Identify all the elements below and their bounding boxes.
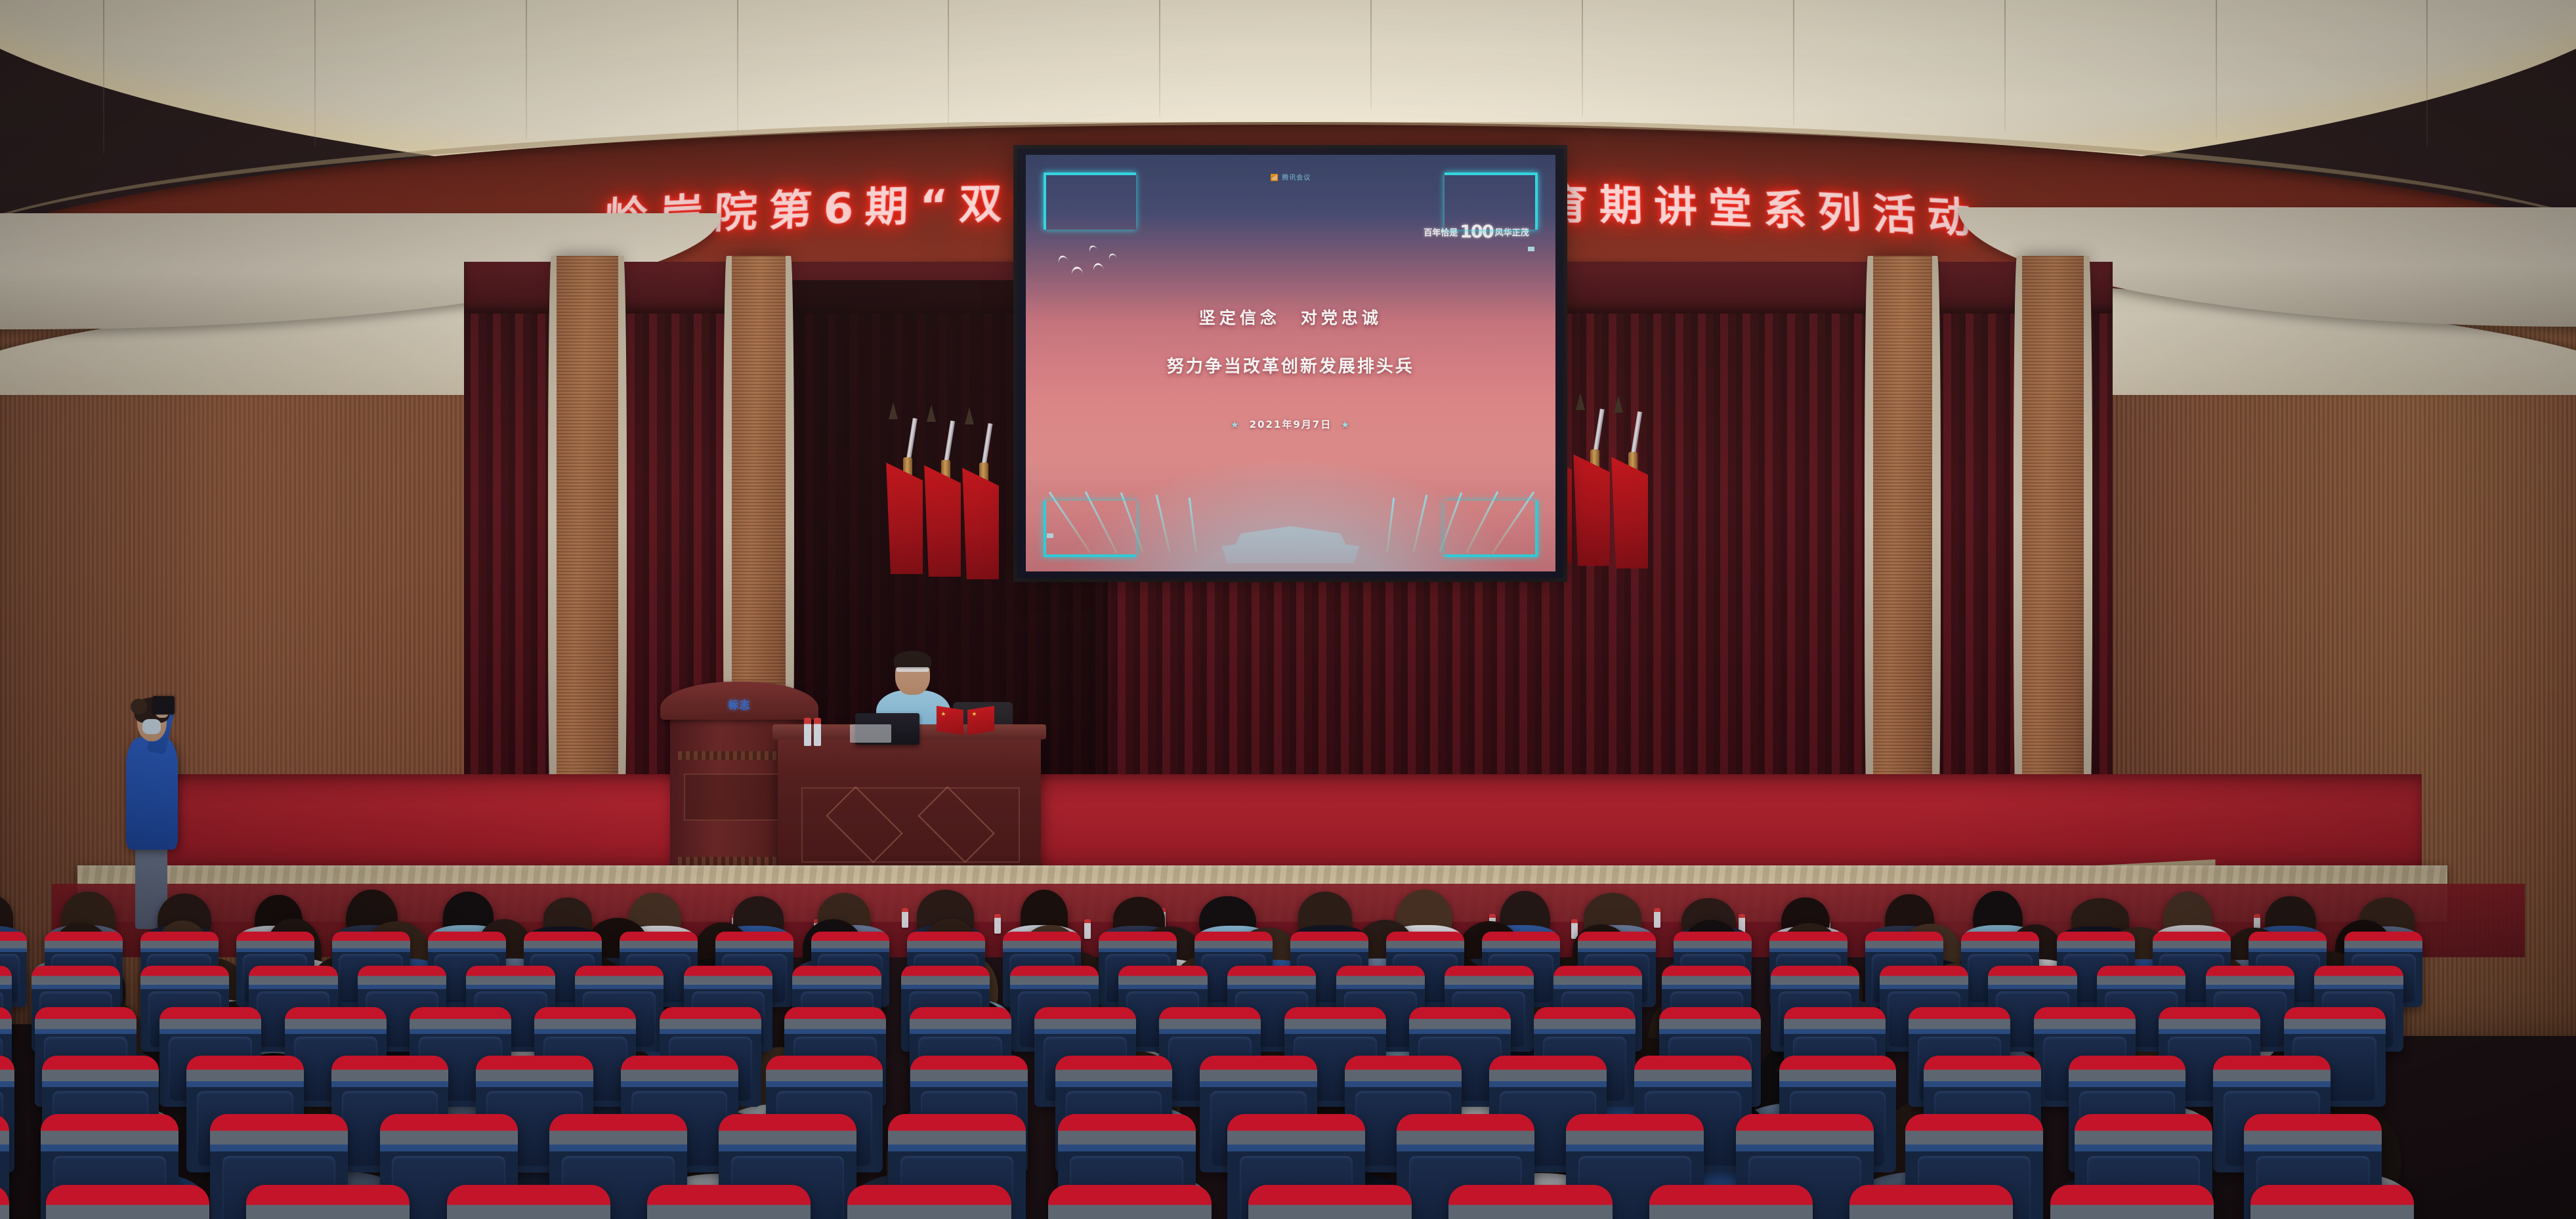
slide-subtitle: 努力争当改革创新发展排头兵	[1026, 353, 1555, 377]
desk-flag-national: ★	[967, 706, 994, 735]
water-bottle	[804, 718, 811, 746]
slide-date-line: ★2021年9月7日★	[1026, 417, 1555, 431]
auditorium-seat[interactable]	[1849, 1185, 2013, 1219]
photographer-hair-bun	[131, 699, 146, 714]
stage-column-right-outer	[2019, 256, 2086, 841]
ceiling-seam	[2216, 0, 2217, 139]
speaker-hair	[894, 651, 931, 669]
ceiling-seam	[2004, 0, 2006, 132]
photographer-jacket	[126, 737, 178, 850]
light-ray	[1386, 498, 1395, 553]
slide-date-text: 2021年9月7日	[1250, 419, 1332, 430]
projection-screen: 📶 腾讯会议 百年恰是 100 风华正茂 坚定信念 对党忠诚 努力争当改革创新发…	[1017, 149, 1563, 578]
slide-title: 坚定信念 对党忠诚	[1026, 305, 1555, 329]
desk-flag-party: ★	[937, 706, 963, 735]
slide-corner-bar-right	[1528, 247, 1534, 251]
ceiling-seam	[526, 0, 527, 139]
stage-column-right-inner	[1870, 256, 1935, 841]
national-emblem-icon: ★	[971, 711, 977, 718]
water-bottle	[1654, 908, 1660, 928]
auditorium-seat[interactable]	[847, 1185, 1011, 1219]
desk-front-panel	[801, 787, 1019, 863]
screen-corner-top-left	[1044, 173, 1136, 229]
light-ray	[1189, 498, 1197, 553]
ceiling-seam	[1370, 0, 1372, 110]
stage-floor-carpet	[155, 774, 2422, 878]
photographer-smartphone	[152, 696, 174, 714]
stage-column-left-outer	[554, 256, 621, 841]
ceiling-seam	[948, 0, 949, 125]
light-ray	[1155, 495, 1170, 553]
podium-logo: 标志	[728, 696, 750, 712]
auditorium-seat[interactable]	[447, 1185, 610, 1219]
screen-corner-top-right	[1445, 173, 1537, 229]
auditorium-seat[interactable]	[46, 1185, 209, 1219]
water-bottle	[814, 718, 821, 746]
auditorium-seat[interactable]	[1448, 1185, 1612, 1219]
head-table-desk	[778, 734, 1040, 875]
auditorium-seat[interactable]	[246, 1185, 410, 1219]
tiananmen-gate-icon	[1221, 518, 1359, 564]
screen-corner-bottom-right	[1445, 501, 1537, 557]
auditorium-seat[interactable]	[1048, 1185, 1212, 1219]
ceiling-seam	[737, 0, 738, 132]
auditorium-photo: 岭岸院第6期“双创大讲堂”暨2021年育期讲堂系列活动	[0, 0, 2576, 1219]
ceiling-seam	[1159, 0, 1160, 117]
auditorium-seat[interactable]	[1649, 1185, 1813, 1219]
star-right-icon: ★	[1341, 420, 1351, 430]
ceiling-seam	[1582, 0, 1583, 117]
meeting-app-watermark: 📶 腾讯会议	[1271, 172, 1311, 182]
water-bottle	[994, 914, 1001, 934]
auditorium-seat[interactable]	[1248, 1185, 1412, 1219]
desk-water-bottles	[804, 718, 853, 746]
star-left-icon: ★	[1231, 420, 1240, 430]
speaker-glasses	[897, 667, 929, 672]
desk-diamond-left	[826, 786, 903, 863]
auditorium-seat[interactable]	[647, 1185, 811, 1219]
light-ray	[1412, 495, 1427, 553]
presentation-slide: 📶 腾讯会议 百年恰是 100 风华正茂 坚定信念 对党忠诚 努力争当改革创新发…	[1026, 155, 1555, 571]
water-bottle	[902, 908, 908, 928]
auditorium-seat[interactable]	[2250, 1185, 2414, 1219]
desk-diamond-right	[918, 786, 996, 863]
auditorium-seat[interactable]	[2050, 1185, 2214, 1219]
photographer-face-mask	[142, 719, 161, 734]
birds-graphic	[1057, 238, 1174, 305]
water-bottle	[1084, 919, 1091, 939]
desk-tray	[850, 724, 891, 743]
party-emblem-icon: ★	[940, 711, 946, 718]
screen-corner-bottom-left	[1044, 501, 1136, 557]
ceiling-seam	[1793, 0, 1794, 125]
